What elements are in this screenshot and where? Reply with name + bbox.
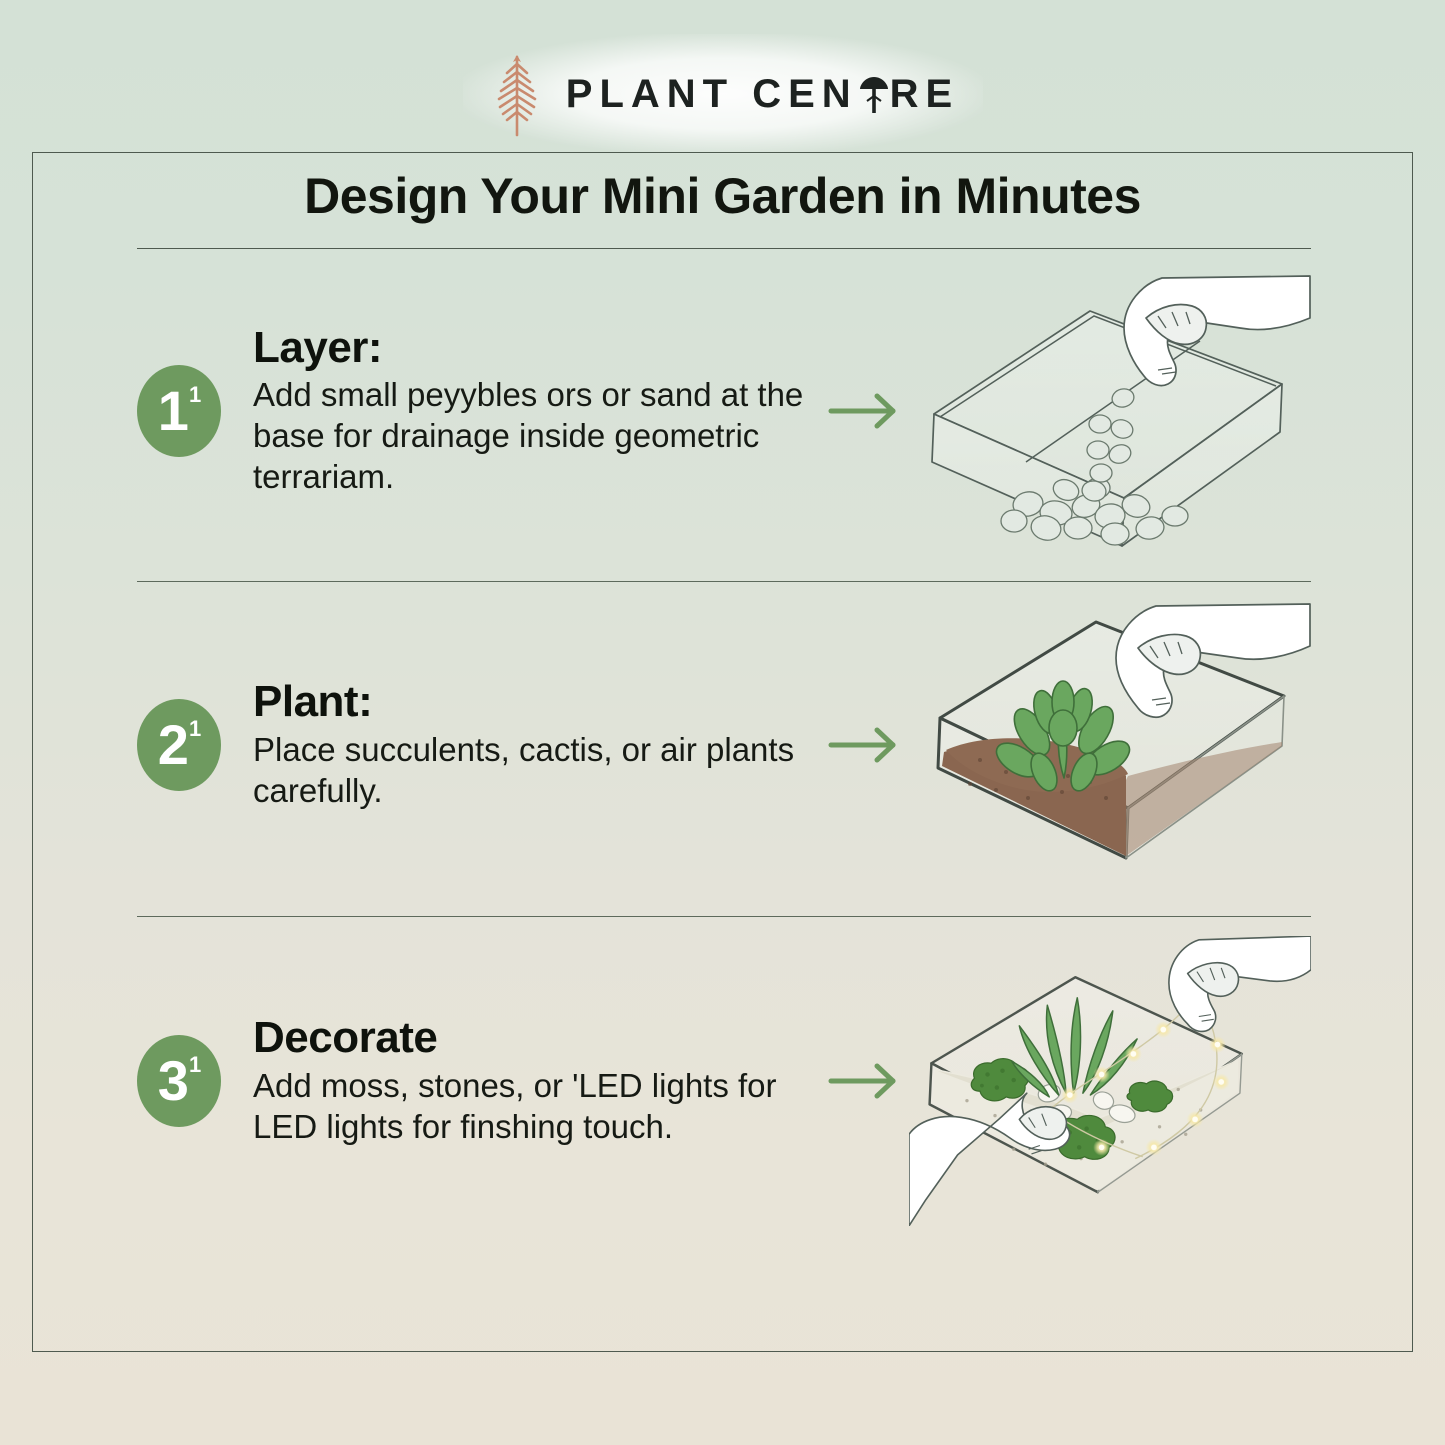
- arrow-right-icon-3: [823, 1061, 909, 1101]
- step-badge-1: 1 1: [137, 365, 221, 457]
- tree-icon: [859, 74, 889, 114]
- step-row-3: 3 1 Decorate Add moss, stones, or 'LED l…: [137, 931, 1311, 1231]
- step-row-1: 1 1 Layer: Add small peyybles ors or san…: [137, 261, 1311, 561]
- step-heading-2: Plant:: [253, 678, 807, 726]
- step-superscript-2: 1: [189, 718, 201, 740]
- arrow-right-icon-2: [823, 725, 909, 765]
- step-superscript-3: 1: [189, 1054, 201, 1076]
- step-number-3: 3: [158, 1053, 188, 1109]
- step-number-2: 2: [158, 717, 188, 773]
- wordmark-part-1: PLANT CEN: [566, 72, 858, 117]
- step-badge-3: 3 1: [137, 1035, 221, 1127]
- step-text-3: Decorate Add moss, stones, or 'LED light…: [253, 1014, 823, 1147]
- step-heading-3: Decorate: [253, 1014, 807, 1062]
- step-superscript-1: 1: [189, 384, 201, 406]
- arrow-right-icon-1: [823, 391, 909, 431]
- illustration-decorating: [909, 936, 1311, 1226]
- fern-leaf-icon: [486, 51, 548, 137]
- step-number-1: 1: [158, 383, 188, 439]
- step-body-3: Add moss, stones, or 'LED lights for LED…: [253, 1066, 807, 1148]
- step-row-2: 2 1 Plant: Place succulents, cactis, or …: [137, 595, 1311, 895]
- step-text-1: Layer: Add small peyybles ors or sand at…: [253, 324, 823, 498]
- step-body-1: Add small peyybles ors or sand at the ba…: [253, 375, 807, 498]
- step-heading-1: Layer:: [253, 324, 807, 372]
- step-divider-2: [137, 916, 1311, 917]
- title-divider: [137, 248, 1311, 249]
- step-badge-2: 2 1: [137, 699, 221, 791]
- wordmark-part-2: RE: [890, 72, 960, 117]
- content-frame: Design Your Mini Garden in Minutes 1 1 L…: [32, 152, 1413, 1352]
- step-body-2: Place succulents, cactis, or air plants …: [253, 730, 807, 812]
- illustration-pebbles: [909, 266, 1311, 556]
- brand-wordmark: PLANT CEN RE: [566, 72, 959, 117]
- page-title: Design Your Mini Garden in Minutes: [33, 167, 1412, 225]
- step-text-2: Plant: Place succulents, cactis, or air …: [253, 678, 823, 811]
- brand-logo: PLANT CEN RE: [0, 48, 1445, 140]
- step-divider-1: [137, 581, 1311, 582]
- illustration-planting: [909, 600, 1311, 890]
